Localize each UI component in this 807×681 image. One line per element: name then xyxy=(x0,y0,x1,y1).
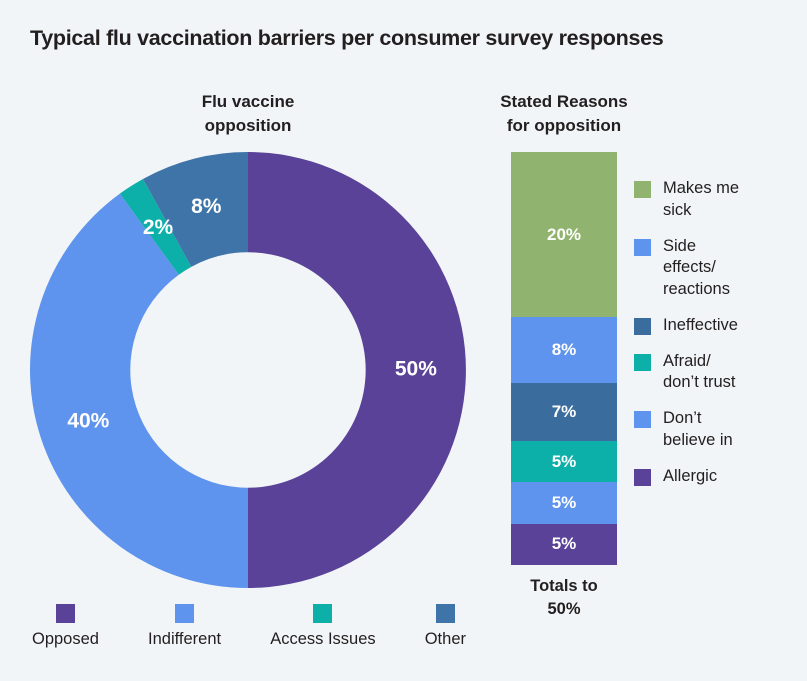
legend-swatch-access-issues xyxy=(313,604,332,623)
legend-label-allergic: Allergic xyxy=(663,466,717,488)
legend-item-opposed[interactable]: Opposed xyxy=(32,604,99,649)
legend-label-opposed: Opposed xyxy=(32,630,99,649)
legend-swatch-other xyxy=(436,604,455,623)
bar-chart-heading: Stated Reasons for opposition xyxy=(468,90,660,138)
donut-slice-value: 40% xyxy=(67,409,109,432)
bar-segment[interactable]: 5% xyxy=(511,441,617,482)
bar-segment-value: 5% xyxy=(552,493,577,513)
page-title: Typical flu vaccination barriers per con… xyxy=(30,26,770,52)
bar-segment-value: 5% xyxy=(552,534,577,554)
bar-segment-value: 20% xyxy=(547,225,581,245)
legend-item-dont-believe-in[interactable]: Don’t believe in xyxy=(634,408,802,452)
legend-label-side-effects: Side effects/ reactions xyxy=(663,236,730,301)
legend-item-makes-me-sick[interactable]: Makes me sick xyxy=(634,178,802,222)
legend-label-makes-me-sick: Makes me sick xyxy=(663,178,739,222)
legend-label-other: Other xyxy=(425,630,466,649)
bar-segment-value: 5% xyxy=(552,452,577,472)
legend-swatch-allergic xyxy=(634,469,651,486)
bar-segment[interactable]: 8% xyxy=(511,317,617,383)
legend-item-ineffective[interactable]: Ineffective xyxy=(634,315,802,337)
donut-legend: Opposed Indifferent Access Issues Other xyxy=(32,604,466,649)
legend-swatch-opposed xyxy=(56,604,75,623)
legend-swatch-dont-believe-in xyxy=(634,411,651,428)
legend-swatch-afraid-dont-trust xyxy=(634,354,651,371)
bar-segment[interactable]: 7% xyxy=(511,383,617,441)
legend-item-other[interactable]: Other xyxy=(425,604,466,649)
donut-chart-heading: Flu vaccine opposition xyxy=(128,90,368,138)
bar-total-note: Totals to 50% xyxy=(489,575,639,622)
legend-item-side-effects[interactable]: Side effects/ reactions xyxy=(634,236,802,301)
reasons-legend: Makes me sick Side effects/ reactions In… xyxy=(634,178,802,501)
legend-label-ineffective: Ineffective xyxy=(663,315,738,337)
legend-swatch-indifferent xyxy=(175,604,194,623)
legend-swatch-ineffective xyxy=(634,318,651,335)
donut-slice-value: 2% xyxy=(143,216,174,239)
bar-segment[interactable]: 5% xyxy=(511,482,617,523)
legend-label-dont-believe-in: Don’t believe in xyxy=(663,408,733,452)
legend-item-allergic[interactable]: Allergic xyxy=(634,466,802,488)
stacked-bar-chart: 20%8%7%5%5%5% xyxy=(511,152,617,565)
bar-segment[interactable]: 5% xyxy=(511,524,617,565)
bar-segment[interactable]: 20% xyxy=(511,152,617,317)
legend-label-indifferent: Indifferent xyxy=(148,630,221,649)
legend-swatch-side-effects xyxy=(634,239,651,256)
legend-item-access-issues[interactable]: Access Issues xyxy=(270,604,375,649)
legend-item-afraid-dont-trust[interactable]: Afraid/ don’t trust xyxy=(634,351,802,395)
legend-label-access-issues: Access Issues xyxy=(270,630,375,649)
donut-slice-value: 8% xyxy=(191,195,222,218)
legend-item-indifferent[interactable]: Indifferent xyxy=(148,604,221,649)
bar-segment-value: 8% xyxy=(552,340,577,360)
donut-slice-value: 50% xyxy=(395,358,437,381)
donut-chart-svg: 50%40%2%8% xyxy=(30,152,466,588)
bar-segment-value: 7% xyxy=(552,402,577,422)
legend-swatch-makes-me-sick xyxy=(634,181,651,198)
legend-label-afraid-dont-trust: Afraid/ don’t trust xyxy=(663,351,735,395)
donut-chart: 50%40%2%8% xyxy=(30,152,466,588)
